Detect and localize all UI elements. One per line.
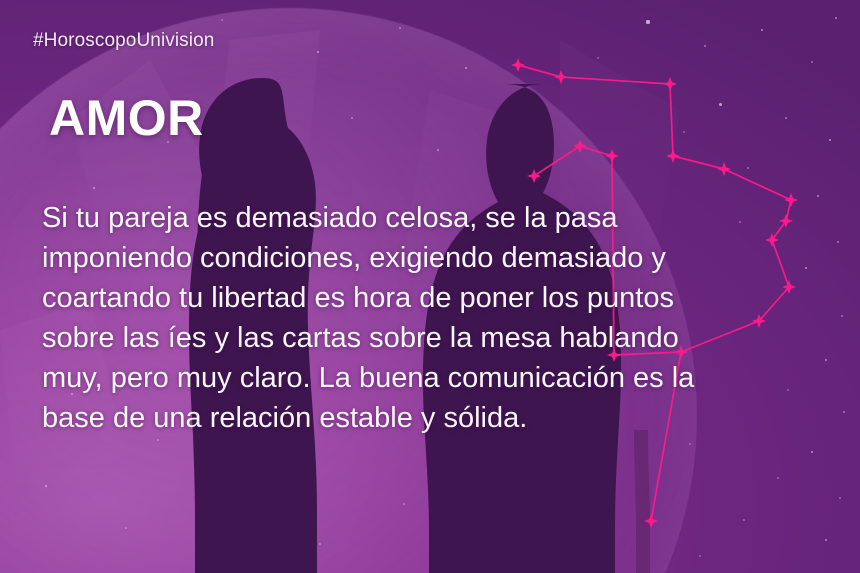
- constellation-star: [644, 514, 658, 528]
- constellation-star: [554, 70, 568, 84]
- constellation-star: [666, 149, 680, 163]
- body-text-line: Si tu pareja es demasiado celosa, se la …: [42, 198, 832, 238]
- constellation-star: [511, 58, 525, 72]
- body-text-line: base de una relación estable y sólida.: [42, 398, 832, 438]
- hashtag-label: #HoroscopoUnivision: [33, 30, 214, 52]
- constellation-line: [580, 146, 612, 156]
- constellation-line: [724, 169, 791, 200]
- body-text-line: imponiendo condiciones, exigiendo demasi…: [42, 238, 832, 278]
- body-text-line: sobre las íes y las cartas sobre la mesa…: [42, 318, 832, 358]
- page-title: AMOR: [49, 92, 204, 144]
- body-text-line: muy, pero muy claro. La buena comunicaci…: [42, 358, 832, 398]
- constellation-line: [670, 84, 673, 156]
- constellation-line: [518, 65, 561, 77]
- constellation-star: [573, 139, 587, 153]
- body-text-line: coartando tu libertad es hora de poner l…: [42, 278, 832, 318]
- constellation-star: [663, 77, 677, 91]
- constellation-star: [527, 169, 541, 183]
- horoscope-body-text: Si tu pareja es demasiado celosa, se la …: [42, 198, 832, 438]
- horoscope-card: #HoroscopoUnivision AMOR Si tu pareja es…: [0, 0, 860, 573]
- constellation-line: [673, 156, 724, 169]
- constellation-line: [534, 146, 580, 176]
- constellation-star: [717, 162, 731, 176]
- constellation-star: [605, 149, 619, 163]
- constellation-line: [561, 77, 670, 84]
